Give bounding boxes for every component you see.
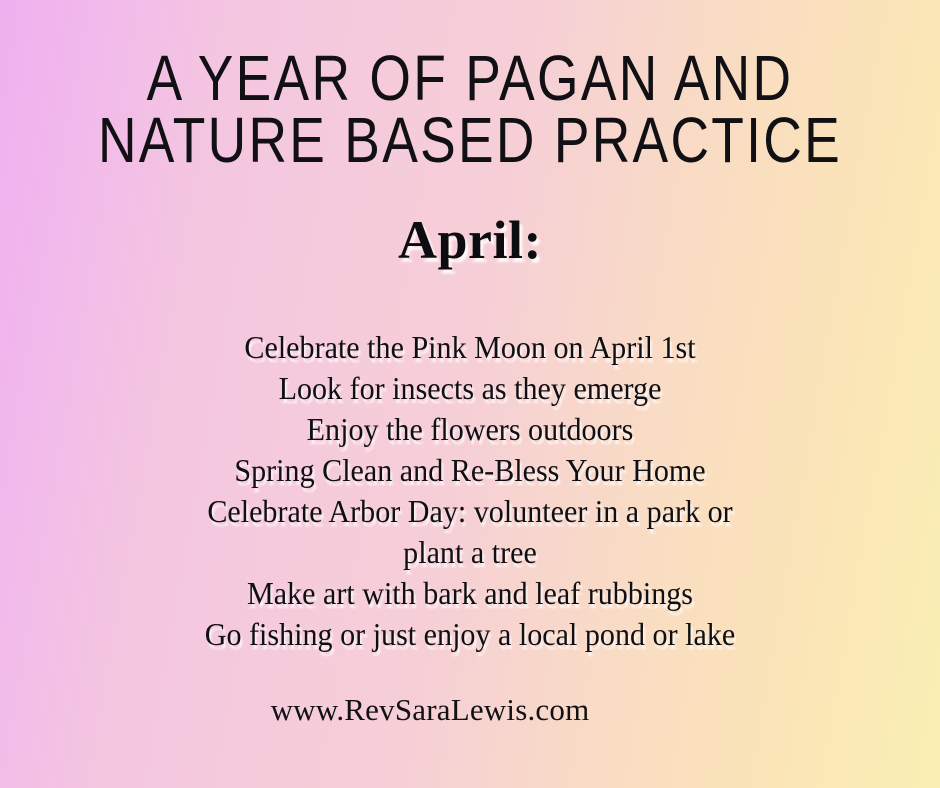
title-line-1: A YEAR OF PAGAN AND: [38, 45, 903, 113]
practice-list-item: Enjoy the flowers outdoors: [28, 409, 912, 450]
practice-list: Celebrate the Pink Moon on April 1st Loo…: [0, 327, 940, 655]
practice-list-item: Look for insects as they emerge: [28, 368, 912, 409]
month-heading: April:: [0, 209, 940, 271]
poster-canvas: A YEAR OF PAGAN AND NATURE BASED PRACTIC…: [0, 0, 940, 788]
practice-list-item: Celebrate the Pink Moon on April 1st: [28, 327, 912, 368]
title-line-2: NATURE BASED PRACTICE: [38, 107, 903, 175]
practice-list-item: Go fishing or just enjoy a local pond or…: [28, 614, 912, 655]
practice-list-item: Spring Clean and Re-Bless Your Home: [28, 450, 912, 491]
website-url: www.RevSaraLewis.com: [0, 691, 940, 729]
poster-title: A YEAR OF PAGAN AND NATURE BASED PRACTIC…: [0, 48, 940, 172]
practice-list-item-continuation: plant a tree: [28, 532, 912, 573]
practice-list-item: Celebrate Arbor Day: volunteer in a park…: [28, 491, 912, 532]
practice-list-item: Make art with bark and leaf rubbings: [28, 573, 912, 614]
